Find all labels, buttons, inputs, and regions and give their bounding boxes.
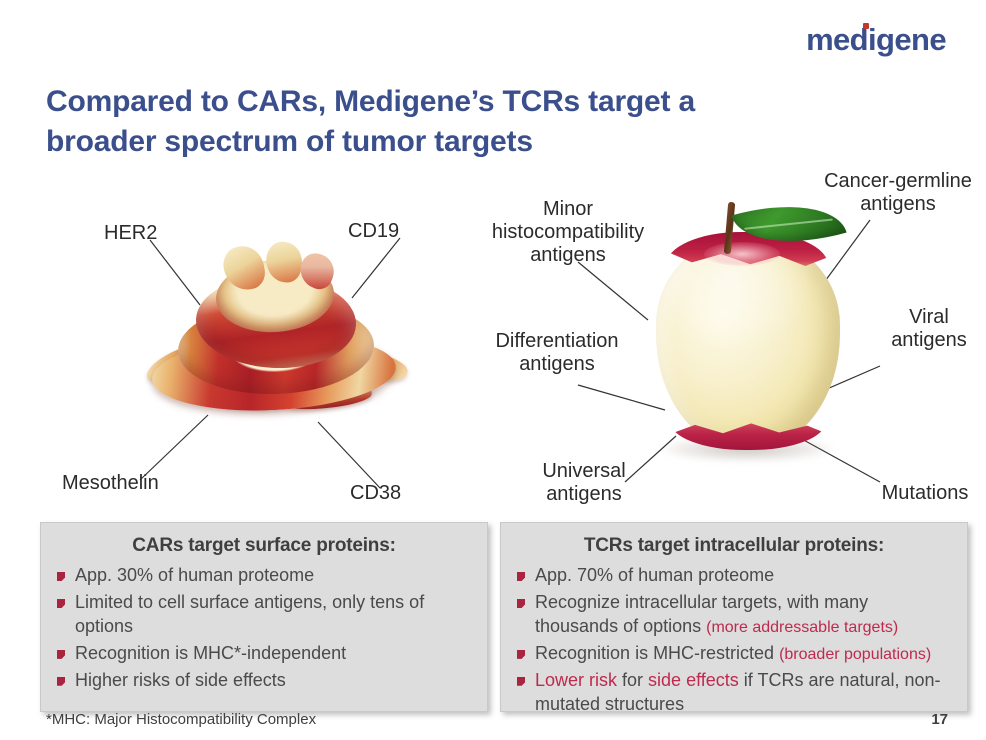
cars-info-box: CARs target surface proteins: App. 30% o… — [40, 522, 488, 712]
label-differentiation: Differentiation antigens — [474, 330, 640, 376]
tcrs-info-box: TCRs target intracellular proteins: App.… — [500, 522, 968, 712]
bullet-icon — [517, 677, 525, 686]
list-item-text: Recognition is MHC-restricted — [535, 643, 779, 663]
bullet-icon — [57, 599, 65, 608]
page-title: Compared to CARs, Medigene’s TCRs target… — [46, 82, 776, 161]
page-number: 17 — [931, 711, 948, 728]
bullet-icon — [517, 599, 525, 608]
bullet-icon — [517, 572, 525, 581]
list-item: Recognize intracellular targets, with ma… — [513, 591, 955, 639]
bullet-icon — [57, 572, 65, 581]
list-item: Recognition is MHC*-independent — [53, 642, 475, 666]
list-item: Limited to cell surface antigens, only t… — [53, 591, 475, 639]
label-her2: HER2 — [104, 222, 157, 245]
tcrs-bullet-list: App. 70% of human proteome Recognize int… — [501, 564, 967, 730]
list-item-text: Recognition is MHC*-independent — [75, 643, 346, 663]
apple-skin-highlight — [704, 242, 780, 266]
tcrs-box-title: TCRs target intracellular proteins: — [501, 523, 967, 564]
apple-peel-figure — [150, 240, 400, 425]
figures-area: HER2 CD19 Mesothelin CD38 Minor histocom… — [0, 170, 986, 520]
label-universal: Universal antigens — [522, 460, 646, 506]
logo-dot-icon — [863, 23, 869, 29]
label-minor-histocompatibility: Minor histocompatibility antigens — [476, 198, 660, 266]
list-item: Higher risks of side effects — [53, 669, 475, 693]
label-cancer-germline: Cancer-germline antigens — [812, 170, 984, 216]
slide: medigene Compared to CARs, Medigene’s TC… — [0, 0, 986, 740]
list-item-text: for — [617, 670, 648, 690]
list-item: App. 70% of human proteome — [513, 564, 955, 588]
cars-box-title: CARs target surface proteins: — [41, 523, 487, 564]
apple-flesh — [656, 236, 840, 448]
bullet-icon — [57, 650, 65, 659]
label-cd19: CD19 — [348, 220, 399, 243]
label-mutations: Mutations — [866, 482, 984, 505]
label-viral: Viral antigens — [876, 306, 982, 352]
list-item-text: App. 30% of human proteome — [75, 565, 314, 585]
list-item: App. 30% of human proteome — [53, 564, 475, 588]
bullet-icon — [57, 677, 65, 686]
label-mesothelin: Mesothelin — [62, 472, 159, 495]
footnote: *MHC: Major Histocompatibility Complex — [46, 711, 316, 728]
list-item-text: App. 70% of human proteome — [535, 565, 774, 585]
peeled-apple-figure — [640, 190, 860, 490]
list-item: Lower risk for side effects if TCRs are … — [513, 669, 955, 717]
logo-text: medigene — [806, 22, 946, 57]
cars-bullet-list: App. 30% of human proteome Limited to ce… — [41, 564, 487, 706]
list-item-accent: Lower risk — [535, 670, 617, 690]
list-item-accent: (broader populations) — [779, 646, 931, 663]
list-item: Recognition is MHC-restricted (broader p… — [513, 642, 955, 666]
medigene-logo: medigene — [806, 22, 946, 58]
label-cd38: CD38 — [350, 482, 401, 505]
bullet-icon — [517, 650, 525, 659]
list-item-text: Limited to cell surface antigens, only t… — [75, 592, 424, 636]
list-item-text: Higher risks of side effects — [75, 670, 286, 690]
list-item-accent: (more addressable targets) — [706, 619, 898, 636]
list-item-accent-2: side effects — [648, 670, 739, 690]
